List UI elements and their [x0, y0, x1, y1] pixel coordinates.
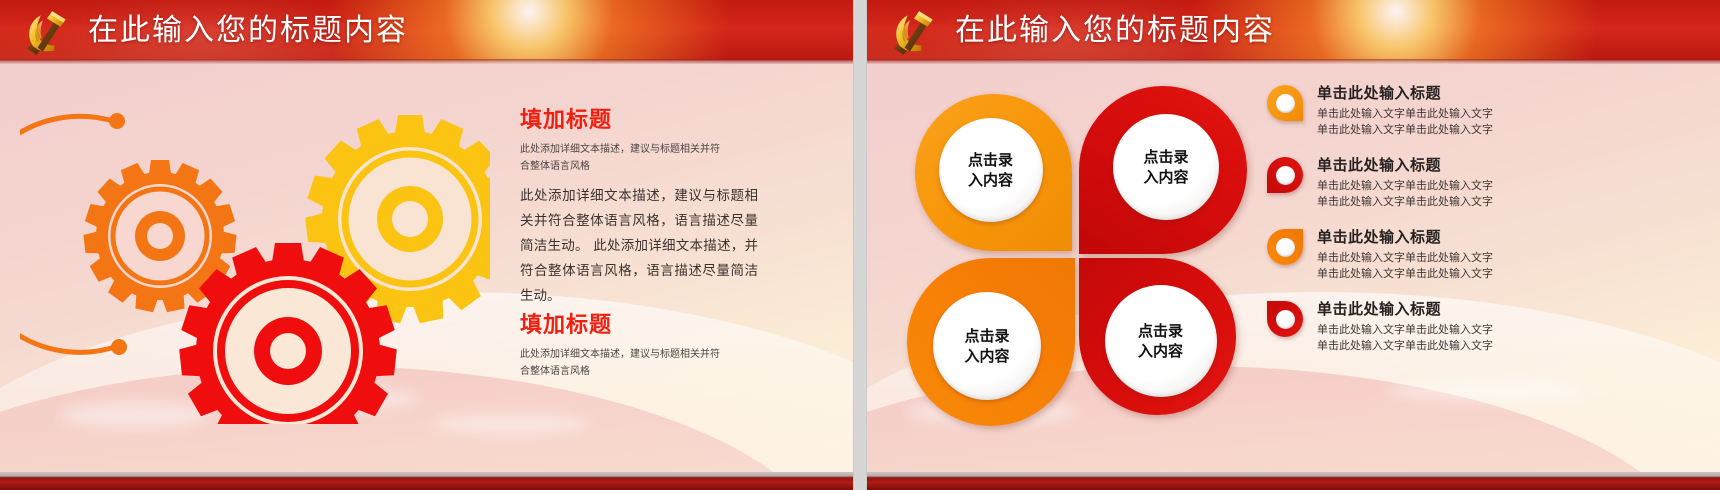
- list-item[interactable]: 单击此处输入标题 单击此处输入文字单击此处输入文字 单击此处输入文字单击此处输入…: [1267, 298, 1697, 354]
- party-emblem-hammer-sickle-icon: [22, 6, 74, 58]
- bullet-dot-icon: [1276, 166, 1295, 185]
- slide-2-title: 在此输入您的标题内容: [955, 8, 1275, 54]
- petal-bullet-icon: [1267, 157, 1303, 193]
- list-item-line-2: 单击此处输入文字单击此处输入文字: [1317, 194, 1697, 210]
- party-emblem-hammer-sickle-icon: [889, 6, 941, 58]
- list-item-line-1: 单击此处输入文字单击此处输入文字: [1317, 322, 1697, 338]
- list-item-title: 单击此处输入标题: [1317, 298, 1697, 319]
- petal-bottom-left-label: 点击录 入内容: [933, 292, 1041, 400]
- background-cloud: [1387, 380, 1587, 402]
- petal-bottom-right[interactable]: 点击录 入内容: [1079, 258, 1236, 415]
- list-item-title: 单击此处输入标题: [1317, 82, 1697, 103]
- list-item-line-2: 单击此处输入文字单击此处输入文字: [1317, 338, 1697, 354]
- list-item-text: 单击此处输入标题 单击此处输入文字单击此处输入文字 单击此处输入文字单击此处输入…: [1317, 226, 1697, 282]
- list-item-line-2: 单击此处输入文字单击此处输入文字: [1317, 122, 1697, 138]
- list-item-title: 单击此处输入标题: [1317, 154, 1697, 175]
- slide-1[interactable]: 在此输入您的标题内容: [0, 0, 853, 490]
- petal-top-left-label: 点击录 入内容: [939, 118, 1043, 222]
- text-block-1-paragraph-wrap[interactable]: 此处添加详细文本描述，建议与标题相关并符合整体语言风格，语言描述尽量简洁生动。 …: [520, 184, 758, 309]
- slide-2[interactable]: 在此输入您的标题内容 点击录 入内容 点击录 入内容 点击录 入内容: [867, 0, 1720, 490]
- petal-bottom-right-label: 点击录 入内容: [1105, 285, 1217, 397]
- slide-2-header: 在此输入您的标题内容: [867, 0, 1720, 64]
- text-block-1[interactable]: 填加标题 此处添加详细文本描述，建议与标题相关并符合整体语言风格: [520, 102, 725, 175]
- petal-diagram: 点击录 入内容 点击录 入内容 点击录 入内容 点击录 入内容: [907, 86, 1237, 416]
- petal-bullet-icon: [1267, 301, 1303, 337]
- petal-top-right[interactable]: 点击录 入内容: [1079, 86, 1247, 254]
- list-item-line-1: 单击此处输入文字单击此处输入文字: [1317, 250, 1697, 266]
- list-item-text: 单击此处输入标题 单击此处输入文字单击此处输入文字 单击此处输入文字单击此处输入…: [1317, 298, 1697, 354]
- petal-top-left[interactable]: 点击录 入内容: [915, 94, 1072, 251]
- text-block-2[interactable]: 填加标题 此处添加详细文本描述，建议与标题相关并符合整体语言风格: [520, 307, 725, 380]
- gears-illustration: [20, 74, 490, 424]
- list-item[interactable]: 单击此处输入标题 单击此处输入文字单击此处输入文字 单击此处输入文字单击此处输入…: [1267, 226, 1697, 282]
- text-block-1-paragraph: 此处添加详细文本描述，建议与标题相关并符合整体语言风格，语言描述尽量简洁生动。 …: [520, 184, 758, 309]
- slide-1-header: 在此输入您的标题内容: [0, 0, 853, 64]
- list-item-line-1: 单击此处输入文字单击此处输入文字: [1317, 178, 1697, 194]
- list-item-text: 单击此处输入标题 单击此处输入文字单击此处输入文字 单击此处输入文字单击此处输入…: [1317, 154, 1697, 210]
- slide-1-title: 在此输入您的标题内容: [88, 8, 408, 54]
- petal-bullet-icon: [1267, 229, 1303, 265]
- slide-2-footer: [867, 472, 1720, 490]
- list-item-line-1: 单击此处输入文字单击此处输入文字: [1317, 106, 1697, 122]
- list-item-text: 单击此处输入标题 单击此处输入文字单击此处输入文字 单击此处输入文字单击此处输入…: [1317, 82, 1697, 138]
- slide-2-body: 点击录 入内容 点击录 入内容 点击录 入内容 点击录 入内容: [867, 64, 1720, 472]
- list-item[interactable]: 单击此处输入标题 单击此处输入文字单击此处输入文字 单击此处输入文字单击此处输入…: [1267, 82, 1697, 138]
- list-item-line-2: 单击此处输入文字单击此处输入文字: [1317, 266, 1697, 282]
- text-block-2-subtitle: 此处添加详细文本描述，建议与标题相关并符合整体语言风格: [520, 346, 725, 380]
- list-item-title: 单击此处输入标题: [1317, 226, 1697, 247]
- slide-1-body: 填加标题 此处添加详细文本描述，建议与标题相关并符合整体语言风格 此处添加详细文…: [0, 64, 853, 472]
- text-block-2-title: 填加标题: [520, 307, 725, 339]
- petal-top-right-label: 点击录 入内容: [1113, 114, 1219, 220]
- petal-bottom-left[interactable]: 点击录 入内容: [907, 258, 1075, 426]
- bullet-dot-icon: [1276, 310, 1295, 329]
- text-block-1-subtitle: 此处添加详细文本描述，建议与标题相关并符合整体语言风格: [520, 141, 725, 175]
- bullet-dot-icon: [1276, 94, 1295, 113]
- list-item[interactable]: 单击此处输入标题 单击此处输入文字单击此处输入文字 单击此处输入文字单击此处输入…: [1267, 154, 1697, 210]
- petal-bullet-icon: [1267, 85, 1303, 121]
- slide-1-footer: [0, 472, 853, 490]
- bullet-dot-icon: [1276, 238, 1295, 257]
- info-list: 单击此处输入标题 单击此处输入文字单击此处输入文字 单击此处输入文字单击此处输入…: [1267, 82, 1697, 370]
- text-block-1-title: 填加标题: [520, 102, 725, 134]
- slide-deck: 在此输入您的标题内容: [0, 0, 1720, 490]
